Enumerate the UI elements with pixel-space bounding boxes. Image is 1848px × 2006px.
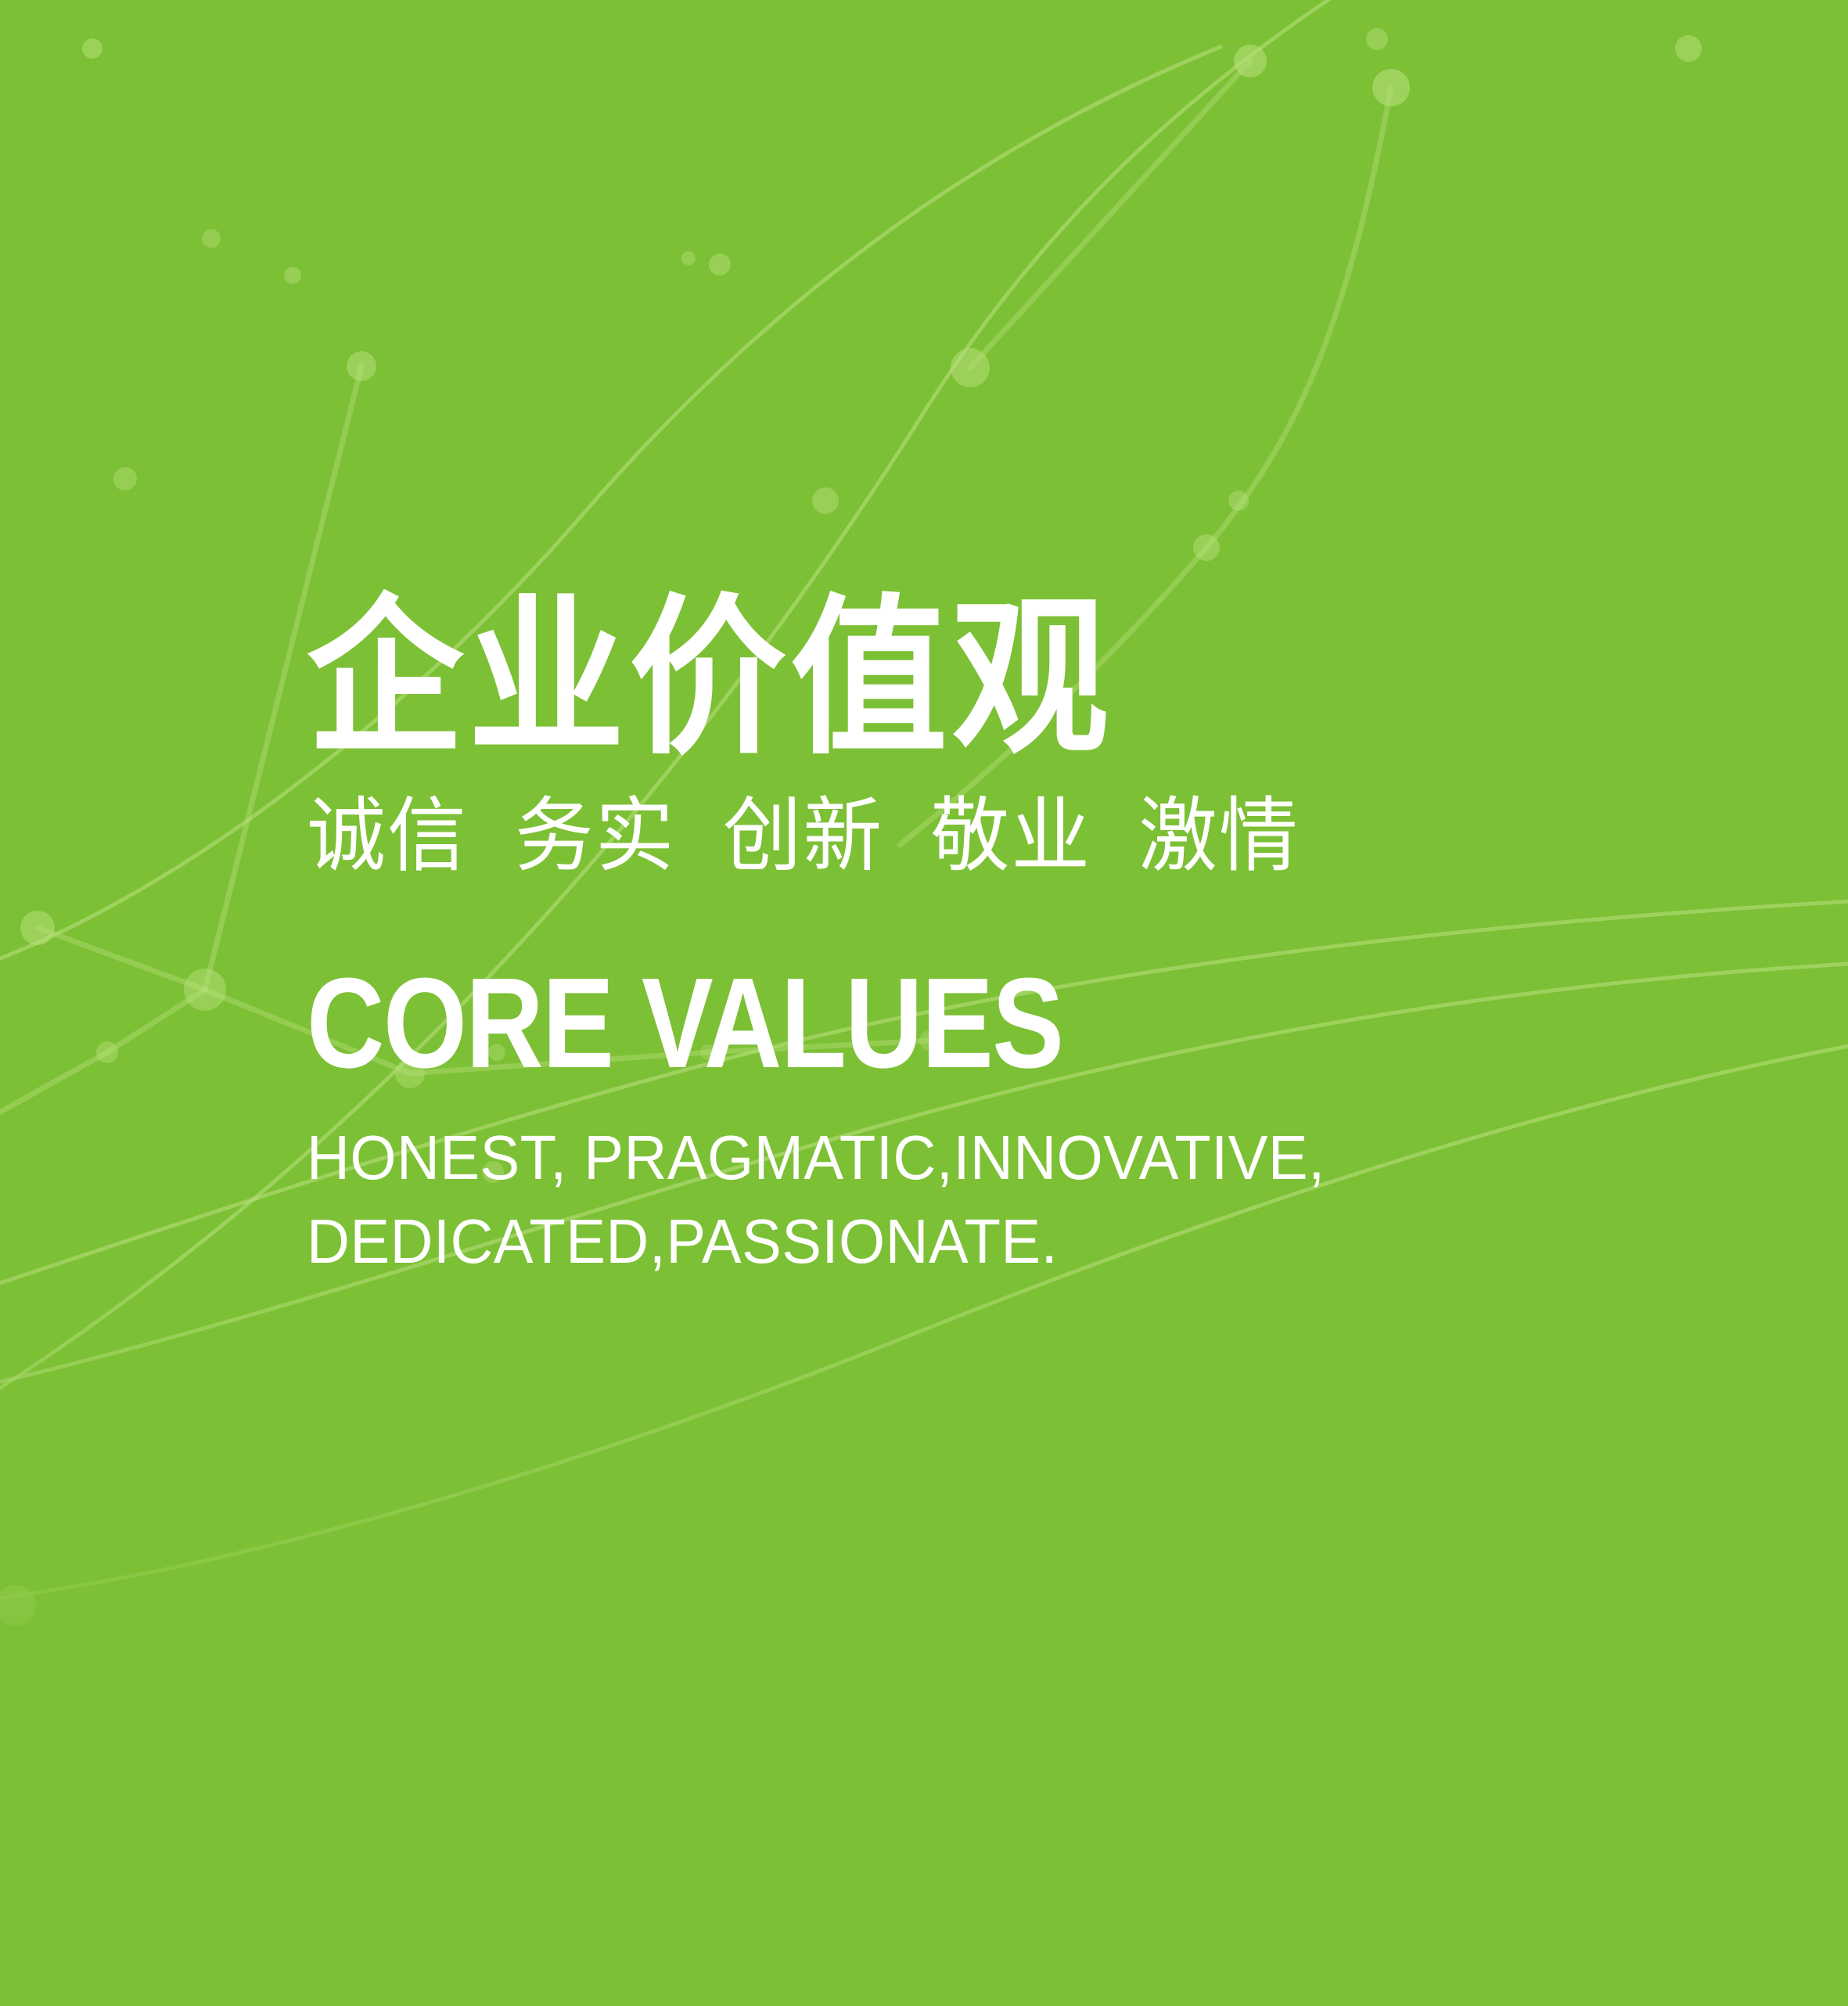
page-title-english: CORE VALUES	[307, 959, 1463, 1087]
network-node	[20, 911, 55, 945]
network-node	[1372, 69, 1410, 106]
network-node	[709, 253, 731, 275]
network-node	[284, 267, 301, 284]
poster-text-block: 企业价值观 诚信务实创新敬业激情 CORE VALUES HONEST, PRA…	[307, 588, 1684, 1283]
network-node	[96, 1041, 118, 1063]
network-node	[681, 251, 696, 265]
core-values-poster: 企业价值观 诚信务实创新敬业激情 CORE VALUES HONEST, PRA…	[0, 0, 1848, 2006]
network-node	[1228, 491, 1249, 511]
value-word-passion: 激情	[1138, 788, 1300, 883]
subtitle-english-line-2: DEDICATED,PASSIONATE.	[307, 1199, 1615, 1283]
network-node	[812, 487, 839, 514]
network-node	[202, 229, 221, 248]
network-node	[1366, 28, 1388, 50]
network-node	[0, 1585, 36, 1626]
value-word-innovation: 创新	[723, 788, 884, 883]
network-node	[347, 351, 376, 381]
network-node	[82, 38, 102, 59]
network-node	[113, 467, 137, 491]
network-link	[970, 61, 1250, 368]
subtitle-english: HONEST, PRAGMATIC,INNOVATIVE, DEDICATED,…	[307, 1116, 1615, 1283]
network-node	[184, 969, 226, 1011]
value-word-pragmatic: 务实	[515, 788, 676, 883]
subtitle-chinese: 诚信务实创新敬业激情	[307, 786, 1642, 886]
network-link	[0, 990, 205, 1138]
network-node	[1675, 35, 1702, 62]
subtitle-english-line-1: HONEST, PRAGMATIC,INNOVATIVE,	[307, 1116, 1615, 1199]
network-node	[1193, 534, 1220, 561]
value-word-dedication: 敬业	[930, 788, 1091, 883]
value-word-integrity: 诚信	[307, 788, 468, 883]
page-title-chinese: 企业价值观	[307, 588, 1573, 769]
network-node	[951, 348, 990, 387]
network-node	[1234, 45, 1267, 77]
